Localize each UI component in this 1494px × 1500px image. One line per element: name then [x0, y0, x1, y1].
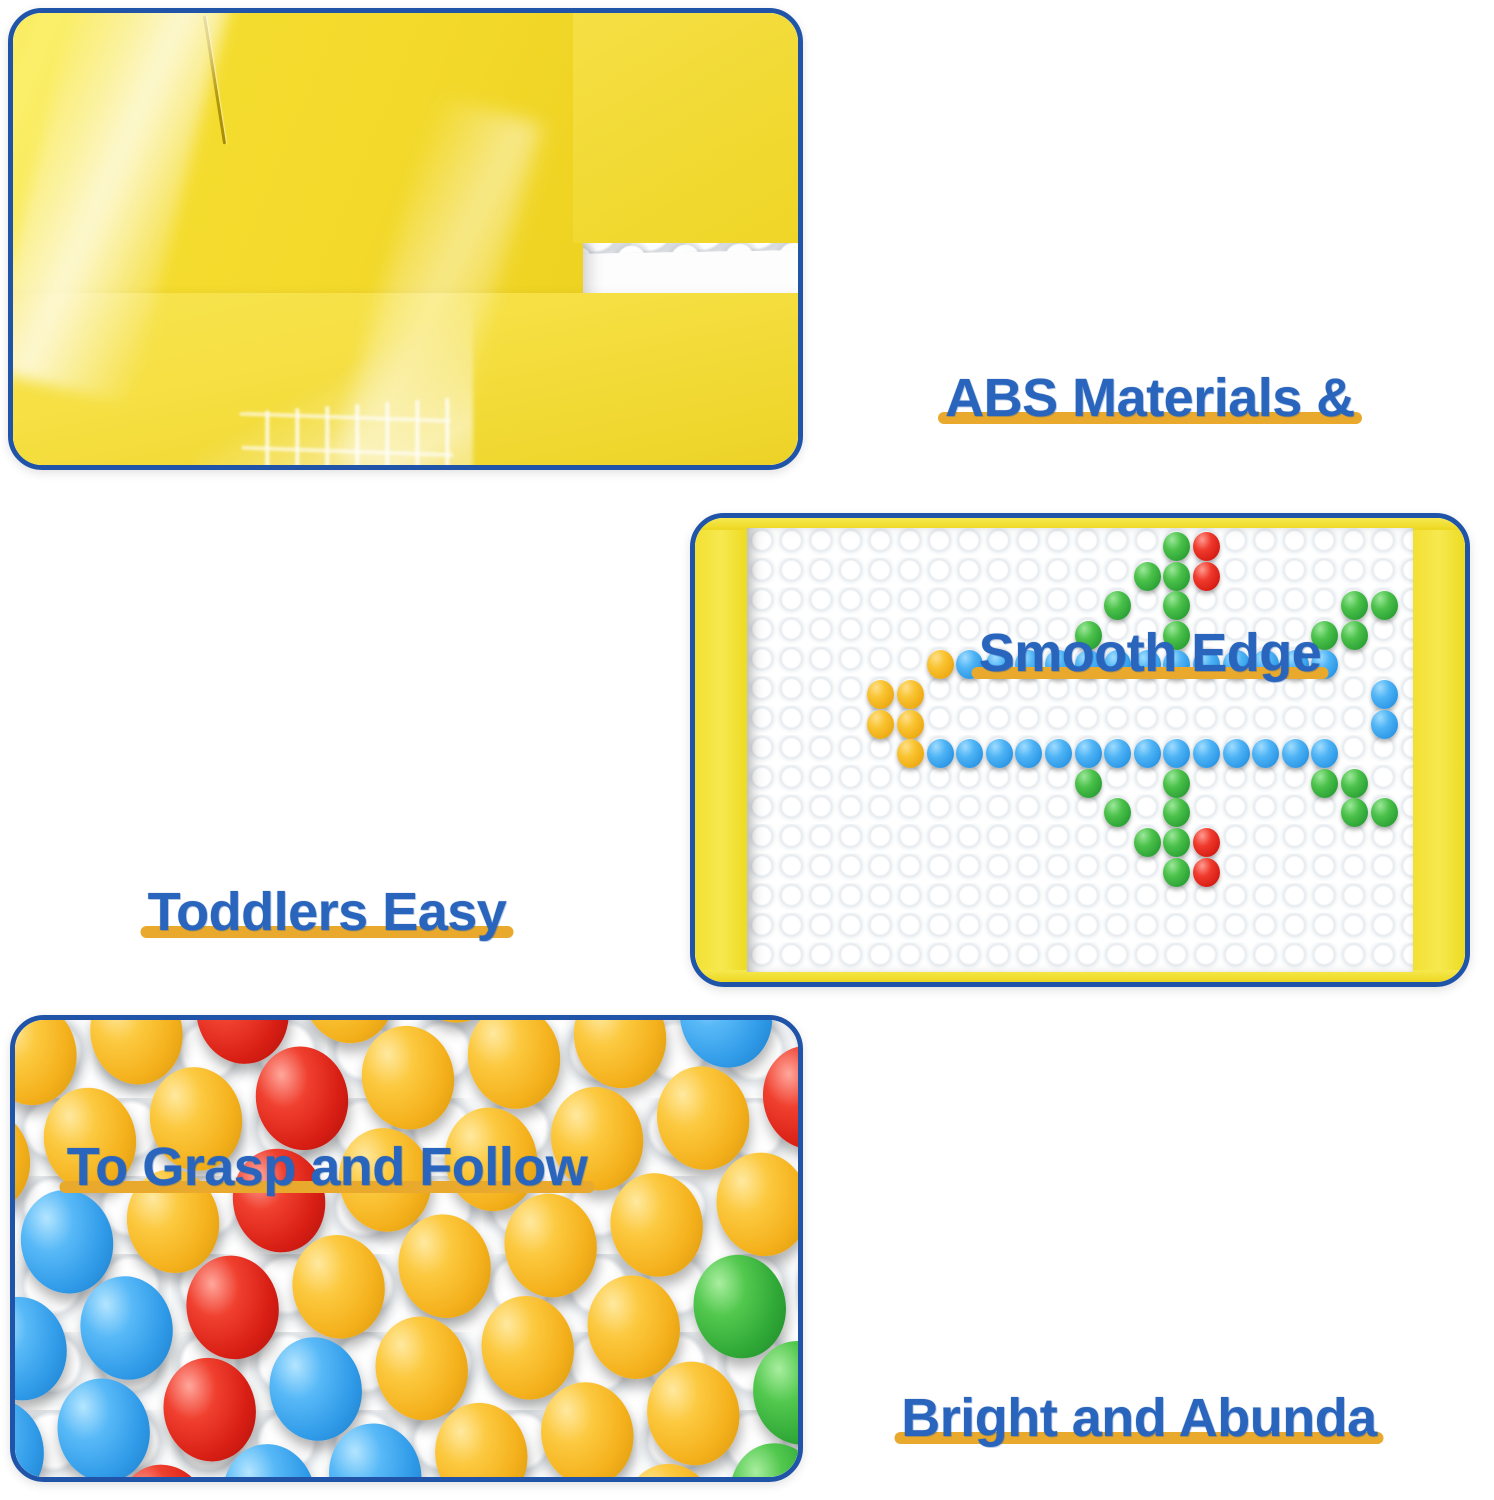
green-peg — [1163, 532, 1190, 561]
caption-toddlers-grasp: Toddlers Easy To Grasp and Follow — [28, 690, 626, 1263]
blue-peg — [1311, 739, 1338, 768]
blue-peg — [1134, 739, 1161, 768]
blue-peg — [1163, 739, 1190, 768]
orange-peg — [897, 739, 924, 768]
green-peg — [1104, 798, 1131, 827]
blue-peg — [927, 739, 954, 768]
red-peg — [1193, 562, 1220, 591]
orange-peg — [459, 1020, 569, 1117]
caption-line-text: ABS Materials & — [945, 367, 1355, 431]
blue-peg — [986, 739, 1013, 768]
caption-line: ABS Materials & — [904, 240, 1396, 431]
blue-peg — [1193, 739, 1220, 768]
green-peg — [1075, 769, 1102, 798]
green-peg — [1341, 769, 1368, 798]
panel-pegboard-pattern — [690, 513, 1470, 987]
orange-peg — [897, 680, 924, 709]
caption-line-text: Toddlers Easy — [148, 881, 507, 945]
blue-peg — [1104, 739, 1131, 768]
panel-pegs-closeup — [10, 1015, 803, 1482]
panel-board-corner — [8, 8, 803, 470]
pegs-closeup-photo — [15, 1020, 798, 1477]
orange-peg — [927, 650, 954, 679]
blue-peg — [1223, 739, 1250, 768]
green-peg — [1371, 798, 1398, 827]
blue-peg — [15, 1289, 76, 1409]
blue-peg — [1045, 739, 1072, 768]
blue-peg — [1282, 739, 1309, 768]
green-peg — [1163, 858, 1190, 887]
infographic-canvas: ABS Materials & Smooth Edge Toddlers Eas… — [0, 0, 1494, 1500]
board-edge-right — [573, 8, 803, 243]
green-peg — [1134, 562, 1161, 591]
green-peg — [1163, 769, 1190, 798]
orange-peg — [897, 710, 924, 739]
caption-line: Bright and Abunda — [872, 1260, 1406, 1451]
red-peg — [1193, 532, 1220, 561]
board-frame-right — [1413, 518, 1465, 982]
board-frame-left — [695, 518, 747, 982]
board-corner-photo — [13, 13, 798, 465]
red-peg — [1193, 828, 1220, 857]
blue-peg — [1252, 739, 1279, 768]
peg-grid — [747, 528, 1413, 972]
green-peg — [1104, 591, 1131, 620]
green-peg — [1371, 591, 1398, 620]
green-peg — [1134, 828, 1161, 857]
orange-peg — [867, 710, 894, 739]
pegboard-photo — [695, 518, 1465, 982]
red-peg — [1193, 858, 1220, 887]
orange-peg — [867, 680, 894, 709]
green-peg — [1163, 562, 1190, 591]
green-peg — [1341, 798, 1368, 827]
caption-line-text: Smooth Edge — [979, 622, 1322, 686]
caption-bright-colors: Bright and Abunda nt Colors — [872, 1196, 1406, 1500]
blue-peg — [1075, 739, 1102, 768]
green-peg — [1311, 769, 1338, 798]
green-peg — [1163, 591, 1190, 620]
caption-line: Toddlers Easy — [28, 754, 626, 945]
blue-peg — [49, 1370, 159, 1477]
green-peg — [1341, 621, 1368, 650]
red-peg — [754, 1038, 798, 1158]
green-peg — [1163, 798, 1190, 827]
blue-peg — [1371, 710, 1398, 739]
caption-line-text: To Grasp and Follow — [67, 1136, 588, 1200]
caption-line-text: Bright and Abunda — [901, 1387, 1376, 1451]
closeup-peg-field — [15, 1020, 798, 1477]
blue-peg — [956, 739, 983, 768]
green-peg — [1341, 591, 1368, 620]
blue-peg — [15, 1391, 53, 1477]
orange-peg — [565, 1020, 675, 1096]
blue-peg — [1371, 680, 1398, 709]
green-peg — [1163, 828, 1190, 857]
blue-peg — [1015, 739, 1042, 768]
